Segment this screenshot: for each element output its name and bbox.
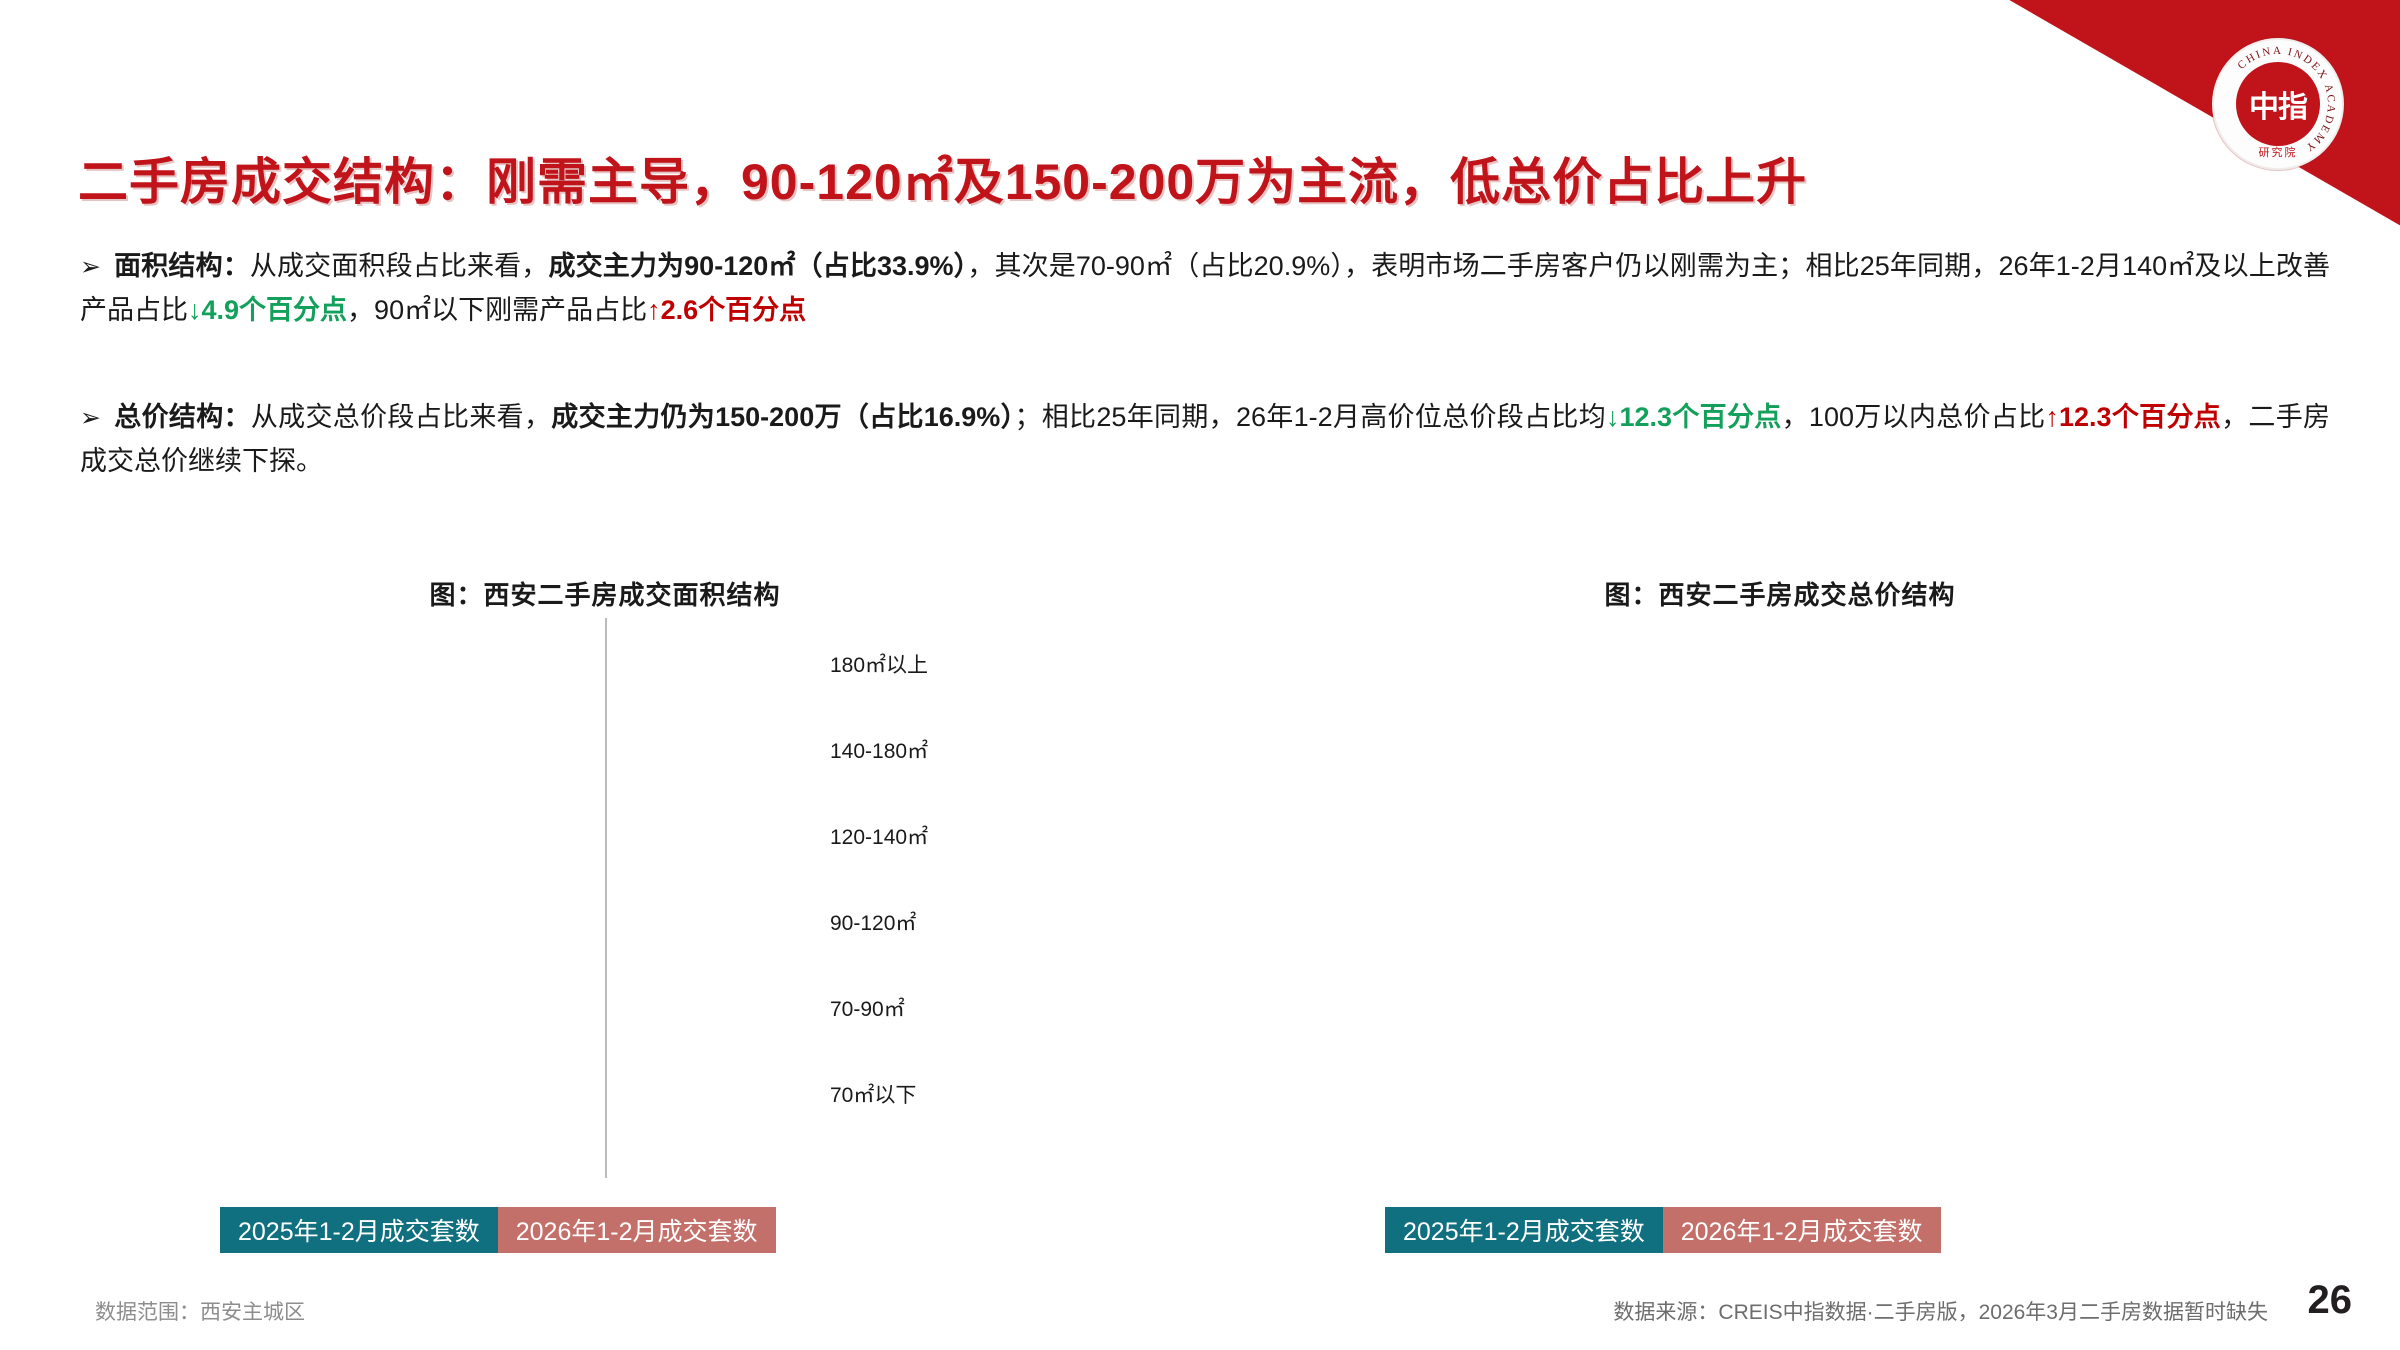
logo-sub-label: 研究院	[2214, 144, 2342, 160]
bullet-area-structure: ➢面积结构：从成交面积段占比来看，成交主力为90-120㎡（占比33.9%），其…	[80, 245, 2330, 332]
bullet-area-down-delta: ↓4.9个百分点	[188, 295, 347, 325]
chart-area-structure: 图：西安二手房成交面积结构 180㎡以上140-180㎡120-140㎡90-1…	[40, 575, 1170, 1265]
bullet-price-structure: ➢总价结构：从成交总价段占比来看，成交主力仍为150-200万（占比16.9%）…	[80, 396, 2330, 483]
category-label-3: 90-120㎡	[830, 907, 916, 937]
chart-area-legend: 2025年1-2月成交套数 2026年1-2月成交套数	[220, 1207, 776, 1253]
legend-curr-2026: 2026年1-2月成交套数	[498, 1207, 776, 1253]
bullet-marker-icon: ➢	[80, 398, 114, 439]
svg-text:CHINA INDEX ACADEMY: CHINA INDEX ACADEMY	[2235, 45, 2337, 155]
page-number: 26	[2308, 1278, 2353, 1323]
chart-price-plot	[1190, 618, 2370, 1178]
chart-price-structure: 图：西安二手房成交总价结构 2025年1-2月成交套数 2026年1-2月成交套…	[1190, 575, 2370, 1265]
category-label-0: 180㎡以上	[830, 649, 928, 679]
category-label-1: 140-180㎡	[830, 735, 928, 765]
logo-ring-label: CHINA INDEX ACADEMY	[2235, 45, 2337, 155]
chart-bar-row	[40, 1062, 1170, 1124]
chart-bar-row	[40, 632, 1170, 694]
legend-prev-2025: 2025年1-2月成交套数	[1385, 1207, 1663, 1253]
chart-area-plot: 180㎡以上140-180㎡120-140㎡90-120㎡70-90㎡70㎡以下	[40, 618, 1170, 1178]
bullet-area-highlight1: 成交主力为90-120㎡（占比33.9%）	[548, 251, 967, 281]
bullet-price-text3: ，100万以内总价占比	[1782, 402, 2046, 432]
chart-bar-row	[40, 804, 1170, 866]
bullet-marker-icon: ➢	[80, 247, 114, 288]
footer-data-source: 数据来源：CREIS中指数据·二手房版，2026年3月二手房数据暂时缺失	[1613, 1296, 2268, 1326]
bullet-price-down-delta: ↓12.3个百分点	[1606, 402, 1782, 432]
bullet-area-up-delta: ↑2.6个百分点	[647, 295, 806, 325]
legend-curr-2026: 2026年1-2月成交套数	[1663, 1207, 1941, 1253]
chart-bar-row	[40, 976, 1170, 1038]
bullet-area-lead: 面积结构：	[114, 251, 250, 281]
bullet-area-text1: 从成交面积段占比来看，	[250, 251, 549, 281]
bullet-price-up-delta: ↑12.3个百分点	[2045, 402, 2221, 432]
bullet-price-lead: 总价结构：	[114, 402, 251, 432]
chart-price-legend: 2025年1-2月成交套数 2026年1-2月成交套数	[1385, 1207, 1941, 1253]
bullet-price-highlight1: 成交主力仍为150-200万（占比16.9%）	[551, 402, 1014, 432]
bullet-price-text2: ；相比25年同期，26年1-2月高价位总价段占比均	[1014, 402, 1606, 432]
brand-logo: CHINA INDEX ACADEMY 中指 研究院	[2212, 38, 2344, 170]
category-label-2: 120-140㎡	[830, 821, 928, 851]
chart-bar-row	[40, 890, 1170, 952]
page-title: 二手房成交结构：刚需主导，90-120㎡及150-200万为主流，低总价占比上升	[78, 142, 1807, 214]
bullet-price-text1: 从成交总价段占比来看，	[251, 402, 551, 432]
bullet-area-text3: ，90㎡以下刚需产品占比	[347, 295, 647, 325]
chart-area-title: 图：西安二手房成交面积结构	[40, 575, 1170, 612]
category-label-5: 70㎡以下	[830, 1079, 916, 1109]
chart-bar-row	[40, 718, 1170, 780]
category-label-4: 70-90㎡	[830, 993, 905, 1023]
legend-prev-2025: 2025年1-2月成交套数	[220, 1207, 498, 1253]
chart-price-title: 图：西安二手房成交总价结构	[1190, 575, 2370, 612]
footer-data-range: 数据范围：西安主城区	[95, 1296, 305, 1326]
